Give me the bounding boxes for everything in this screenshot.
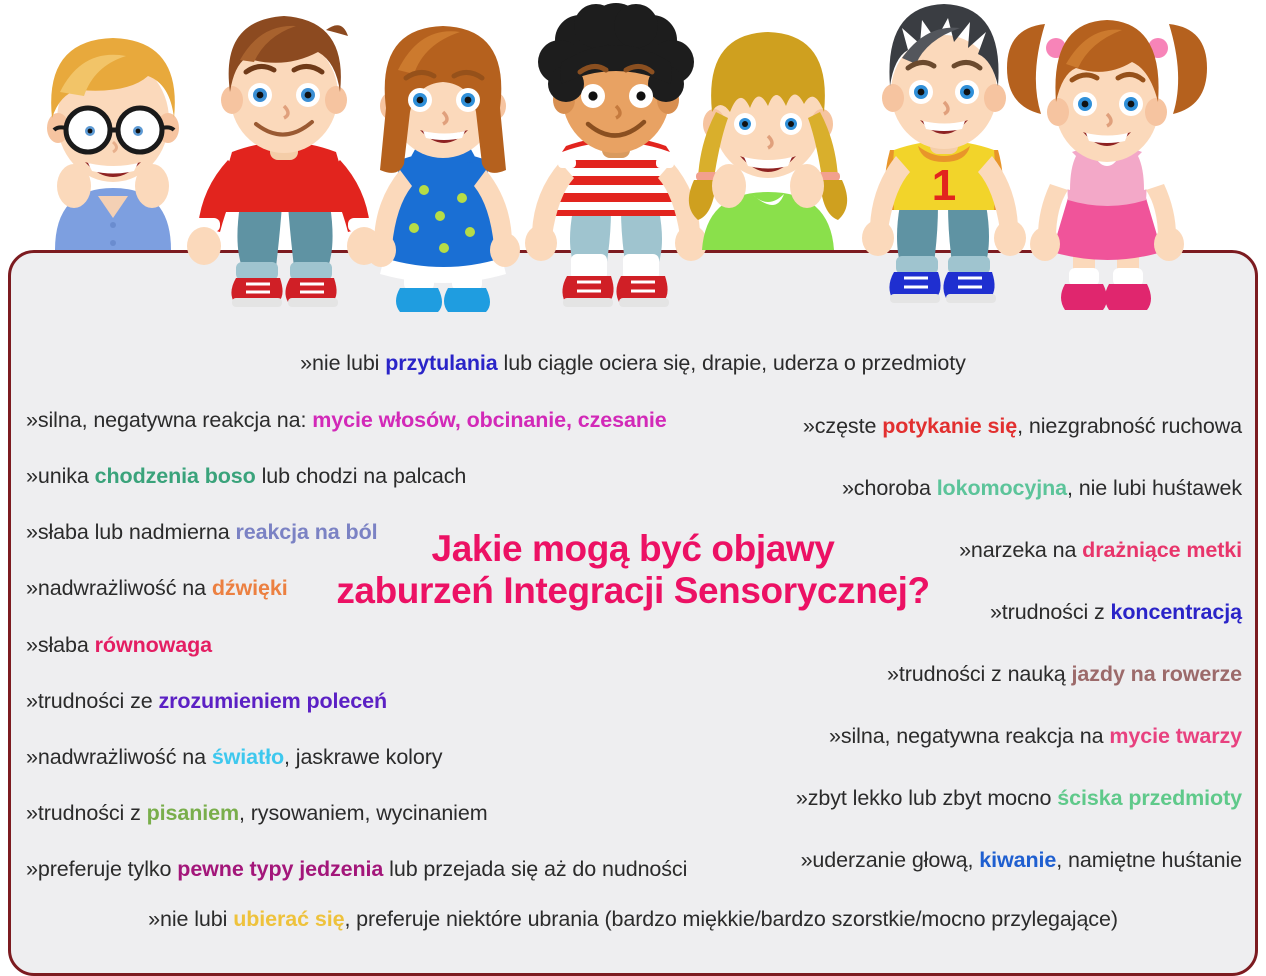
svg-text:1: 1 bbox=[932, 161, 956, 210]
kid-brown-hair-boy-red-shirt bbox=[187, 16, 381, 307]
symptom-item-top: »nie lubi przytulania lub ciągle ociera … bbox=[0, 352, 1266, 376]
symptom-text-pre: »trudności z bbox=[26, 801, 147, 825]
symptom-item-right-5: »silna, negatywna reakcja na mycie twarz… bbox=[829, 725, 1242, 749]
symptom-text-pre: »słaba bbox=[26, 633, 95, 657]
symptom-text-highlight: pewne typy jedzenia bbox=[177, 857, 383, 881]
symptom-text-post: , nie lubi huśtawek bbox=[1067, 476, 1242, 500]
symptom-text-post: lub ciągle ociera się, drapie, uderza o … bbox=[498, 351, 966, 375]
symptom-text-pre: »trudności ze bbox=[26, 689, 158, 713]
symptom-text-highlight: ściska przedmioty bbox=[1057, 786, 1242, 810]
symptom-text-highlight: kiwanie bbox=[979, 848, 1056, 872]
symptom-item-right-6: »zbyt lekko lub zbyt mocno ściska przedm… bbox=[796, 787, 1242, 811]
symptom-text-highlight: przytulania bbox=[385, 351, 497, 375]
symptom-text-pre: »nie lubi bbox=[300, 351, 385, 375]
page-title: Jakie mogą być objawy zaburzeń Integracj… bbox=[0, 528, 1266, 612]
symptom-text-pre: »preferuje tylko bbox=[26, 857, 177, 881]
symptom-text-highlight: zrozumieniem poleceń bbox=[158, 689, 387, 713]
symptom-text-pre: »uderzanie głową, bbox=[801, 848, 980, 872]
symptom-text-post: , namiętne huśtanie bbox=[1056, 848, 1242, 872]
symptom-text-highlight: równowaga bbox=[95, 633, 212, 657]
children-illustration-svg: 1 bbox=[0, 0, 1266, 330]
page-title-line-2: zaburzeń Integracji Sensorycznej? bbox=[0, 570, 1266, 612]
infographic-root: 1 bbox=[0, 0, 1266, 976]
kid-curly-black-hair-boy-striped-shirt bbox=[525, 3, 707, 307]
children-illustration: 1 bbox=[0, 0, 1266, 330]
symptom-text-highlight: chodzenia boso bbox=[95, 464, 256, 488]
symptom-text-highlight: pisaniem bbox=[147, 801, 239, 825]
symptom-text-post: lub chodzi na palcach bbox=[256, 464, 467, 488]
symptom-item-right-1: »choroba lokomocyjna, nie lubi huśtawek bbox=[842, 477, 1242, 501]
symptom-item-left-0: »silna, negatywna reakcja na: mycie włos… bbox=[26, 409, 667, 433]
symptom-text-highlight: jazdy na rowerze bbox=[1072, 662, 1242, 686]
symptom-text-highlight: lokomocyjna bbox=[937, 476, 1067, 500]
symptom-text-highlight: mycie twarzy bbox=[1109, 724, 1242, 748]
symptom-text-pre: »nadwrażliwość na bbox=[26, 745, 212, 769]
symptom-text-post: lub przejada się aż do nudności bbox=[383, 857, 687, 881]
symptom-item-right-4: »trudności z nauką jazdy na rowerze bbox=[887, 663, 1242, 687]
symptom-text-post: , preferuje niektóre ubrania (bardzo mię… bbox=[344, 907, 1117, 931]
symptom-text-pre: »silna, negatywna reakcja na bbox=[829, 724, 1109, 748]
symptom-item-left-1: »unika chodzenia boso lub chodzi na palc… bbox=[26, 465, 466, 489]
symptom-text-highlight: ubierać się bbox=[233, 907, 344, 931]
symptom-item-left-4: »słaba równowaga bbox=[26, 634, 212, 658]
symptom-text-pre: »choroba bbox=[842, 476, 937, 500]
symptom-text-post: , rysowaniem, wycinaniem bbox=[239, 801, 488, 825]
symptom-text-pre: »nie lubi bbox=[148, 907, 233, 931]
kid-blonde-girl-with-braids bbox=[689, 32, 847, 250]
symptom-text-pre: »silna, negatywna reakcja na: bbox=[26, 408, 312, 432]
kid-blonde-girl-with-glasses bbox=[47, 38, 179, 250]
symptom-text-pre: »zbyt lekko lub zbyt mocno bbox=[796, 786, 1057, 810]
kid-pigtails-girl-pink-dress bbox=[1007, 20, 1207, 310]
kid-black-hair-boy-yellow-jersey: 1 bbox=[862, 4, 1026, 303]
symptom-item-right-7: »uderzanie głową, kiwanie, namiętne huśt… bbox=[801, 849, 1242, 873]
symptom-text-pre: »częste bbox=[803, 414, 882, 438]
symptom-text-pre: »unika bbox=[26, 464, 95, 488]
symptom-item-left-8: »preferuje tylko pewne typy jedzenia lub… bbox=[26, 858, 687, 882]
symptom-item-bottom: »nie lubi ubierać się, preferuje niektór… bbox=[0, 908, 1266, 932]
page-title-line-1: Jakie mogą być objawy bbox=[0, 528, 1266, 570]
symptom-text-highlight: mycie włosów, obcinanie, czesanie bbox=[312, 408, 666, 432]
symptom-item-right-0: »częste potykanie się, niezgrabność ruch… bbox=[803, 415, 1242, 439]
symptom-text-highlight: potykanie się bbox=[882, 414, 1017, 438]
symptom-text-post: , jaskrawe kolory bbox=[284, 745, 442, 769]
symptom-item-left-7: »trudności z pisaniem, rysowaniem, wycin… bbox=[26, 802, 488, 826]
kid-brown-hair-girl-blue-dress bbox=[366, 26, 520, 312]
symptom-item-left-5: »trudności ze zrozumieniem poleceń bbox=[26, 690, 387, 714]
symptom-text-post: , niezgrabność ruchowa bbox=[1017, 414, 1242, 438]
symptom-text-highlight: światło bbox=[212, 745, 284, 769]
symptom-text-pre: »trudności z nauką bbox=[887, 662, 1072, 686]
symptom-item-left-6: »nadwrażliwość na światło, jaskrawe kolo… bbox=[26, 746, 442, 770]
